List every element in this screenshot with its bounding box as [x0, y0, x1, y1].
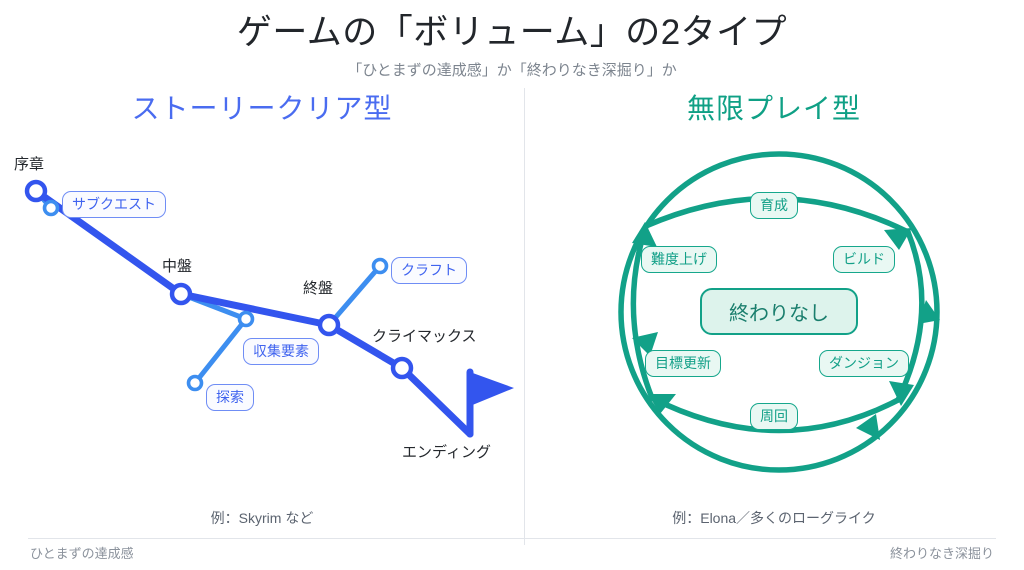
- loop-pill-training[interactable]: 育成: [750, 192, 798, 219]
- slide-canvas: ゲームの「ボリューム」の2タイプ 「ひとまずの達成感」か「終わりなき深掘り」か …: [0, 0, 1024, 570]
- loop-center-label: 終わりなし: [700, 288, 858, 335]
- footer-left-label: ひとまずの達成感: [30, 545, 134, 563]
- infinite-loop-graphic: [0, 0, 1024, 570]
- loop-pill-difficulty-up[interactable]: 難度上げ: [641, 246, 717, 273]
- footer-right-label: 終わりなき深掘り: [890, 545, 994, 563]
- left-panel-caption: 例：Skyrim など: [0, 508, 524, 528]
- right-panel-caption: 例：Elona／多くのローグライク: [524, 508, 1024, 528]
- loop-pill-repeat[interactable]: 周回: [750, 403, 798, 430]
- loop-pill-build[interactable]: ビルド: [833, 246, 895, 273]
- loop-pill-goal-update[interactable]: 目標更新: [645, 350, 721, 377]
- loop-pill-dungeon[interactable]: ダンジョン: [819, 350, 909, 377]
